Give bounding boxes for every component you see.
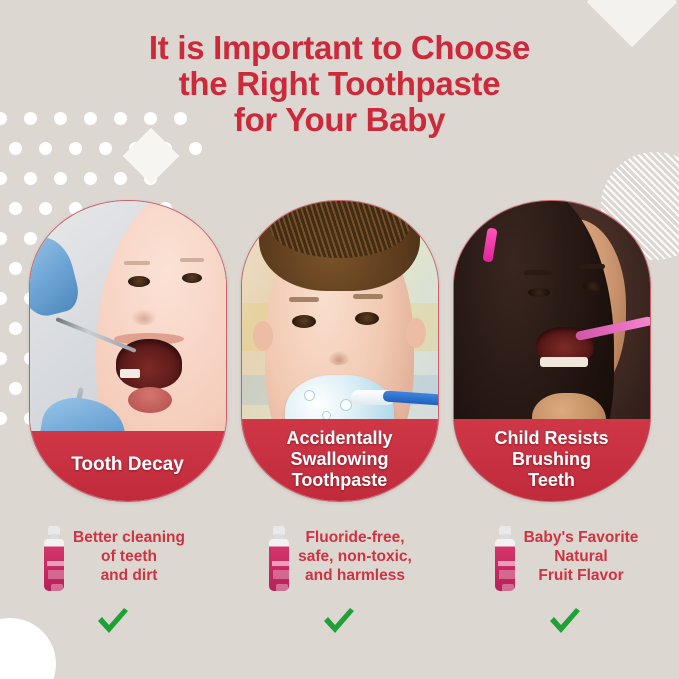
title-line-3: for Your Baby: [0, 102, 679, 138]
benefit-line-3: and harmless: [305, 567, 405, 584]
dot-decoration: [0, 172, 7, 185]
check-icon: [322, 606, 356, 641]
title-line-2: the Right Toothpaste: [0, 66, 679, 102]
benefit-line-1: Better cleaning: [73, 529, 185, 546]
benefit-line-1: Baby's Favorite: [524, 529, 639, 546]
benefit-line-3: and dirt: [101, 567, 158, 584]
card-label-line-2: Swallowing: [290, 449, 388, 469]
card-label-resists-brushing: Child Resists Brushing Teeth: [453, 419, 651, 502]
dot-decoration: [84, 172, 97, 185]
card-label-tooth-decay: Tooth Decay: [29, 431, 227, 502]
infographic-canvas: It is Important to Choose the Right Toot…: [0, 0, 679, 679]
toothpaste-bottle-icon: [492, 526, 518, 592]
card-label-text: Accidentally Swallowing Toothpaste: [286, 428, 392, 491]
benefit-text: Fluoride-free, safe, non-toxic, and harm…: [298, 520, 412, 585]
check-icon: [96, 606, 130, 641]
concern-card-swallowing-toothpaste[interactable]: Accidentally Swallowing Toothpaste: [241, 200, 439, 502]
toothpaste-bottle-icon: [41, 526, 67, 592]
benefit-fluoride-free: Fluoride-free, safe, non-toxic, and harm…: [226, 520, 452, 679]
benefit-line-1: Fluoride-free,: [305, 529, 404, 546]
benefit-better-cleaning: Better cleaning of teeth and dirt: [0, 520, 226, 679]
dot-decoration: [99, 142, 112, 155]
dot-decoration: [69, 142, 82, 155]
concern-card-tooth-decay[interactable]: Tooth Decay: [29, 200, 227, 502]
title-line-1: It is Important to Choose: [0, 30, 679, 66]
dot-decoration: [54, 172, 67, 185]
benefit-line-2: of teeth: [101, 548, 157, 565]
card-label-text: Tooth Decay: [71, 454, 184, 476]
benefit-fruit-flavor: Baby's Favorite Natural Fruit Flavor: [452, 520, 678, 679]
benefit-line-2: Natural: [554, 548, 607, 565]
page-title: It is Important to Choose the Right Toot…: [0, 30, 679, 138]
benefits-row: Better cleaning of teeth and dirt Fluori…: [0, 520, 679, 679]
dot-decoration: [9, 142, 22, 155]
card-label-line-1: Accidentally: [286, 428, 392, 448]
card-label-swallowing-toothpaste: Accidentally Swallowing Toothpaste: [241, 419, 439, 502]
dot-decoration: [39, 142, 52, 155]
check-icon: [548, 606, 582, 641]
benefit-text: Better cleaning of teeth and dirt: [73, 520, 185, 585]
dot-decoration: [24, 172, 37, 185]
card-label-line-2: Brushing: [512, 449, 591, 469]
dot-decoration: [114, 172, 127, 185]
benefit-text: Baby's Favorite Natural Fruit Flavor: [524, 520, 639, 585]
benefit-line-3: Fruit Flavor: [538, 567, 623, 584]
concern-cards-row: Tooth Decay: [0, 200, 679, 500]
card-label-line-1: Child Resists: [494, 428, 608, 448]
card-label-line-3: Teeth: [528, 470, 575, 490]
benefit-line-2: safe, non-toxic,: [298, 548, 412, 565]
card-label-line-3: Toothpaste: [292, 470, 388, 490]
concern-card-resists-brushing[interactable]: Child Resists Brushing Teeth: [453, 200, 651, 502]
dot-decoration: [189, 142, 202, 155]
toothpaste-bottle-icon: [266, 526, 292, 592]
card-label-text: Child Resists Brushing Teeth: [494, 428, 608, 491]
